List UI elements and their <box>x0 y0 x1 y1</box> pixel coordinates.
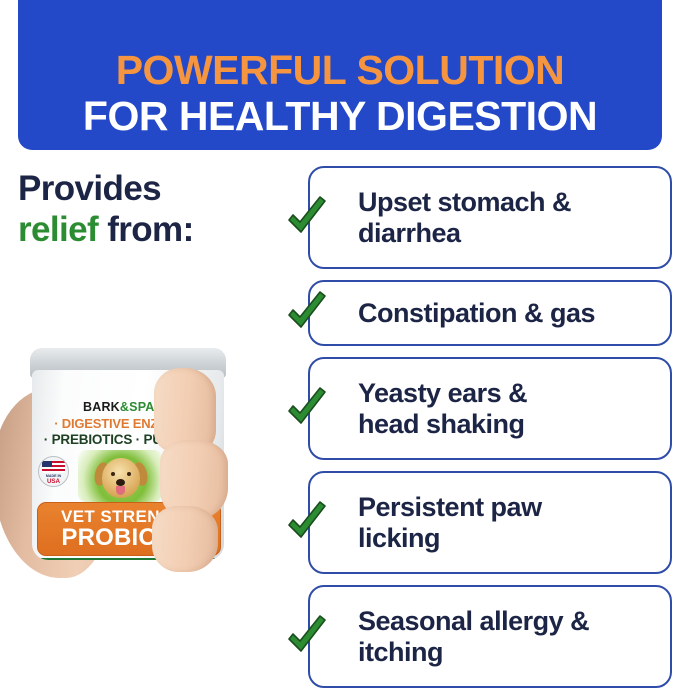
benefit-4-line2: licking <box>358 523 440 553</box>
count-label: SOFT CHEWS <box>174 472 213 478</box>
benefit-box-3: Yeasty ears & head shaking <box>308 357 672 460</box>
header-title-line2: FOR HEALTHY DIGESTION <box>83 96 597 138</box>
dog-tongue <box>116 486 125 495</box>
benefit-text-5: Seasonal allergy & itching <box>358 606 589 668</box>
lead-word-from: from: <box>107 210 193 249</box>
benefit-text-1: Upset stomach & diarrhea <box>358 187 571 249</box>
list-item: Upset stomach & diarrhea <box>308 166 672 269</box>
list-item: Constipation & gas <box>308 280 672 346</box>
brand-logo: BARK&SPARK <box>32 400 224 414</box>
label-enzymes-line: · DIGESTIVE ENZYMES · <box>32 416 224 431</box>
lead-word-provides: Provides <box>18 169 161 208</box>
benefit-3-line2: head shaking <box>358 409 525 439</box>
benefit-text-2: Constipation & gas <box>358 298 595 329</box>
dog-photo <box>78 450 162 502</box>
jar-label: BARK&SPARK · DIGESTIVE ENZYMES · · PREBI… <box>32 370 224 560</box>
benefit-1-line2: diarrhea <box>358 218 461 248</box>
header-banner: POWERFUL SOLUTION FOR HEALTHY DIGESTION <box>18 0 662 150</box>
gut-health-band: GUT HEALTH <box>37 558 219 560</box>
product-photo: BARK&SPARK · DIGESTIVE ENZYMES · · PREBI… <box>0 330 290 586</box>
lead-headline: Provides relief from: <box>18 168 286 251</box>
benefit-5-line1: Seasonal allergy & <box>358 606 589 636</box>
benefit-1-line1: Upset stomach & <box>358 187 571 217</box>
benefits-list: Upset stomach & diarrhea Constipation & … <box>308 166 672 699</box>
brand-amp: & <box>120 400 129 414</box>
lead-word-relief: relief <box>18 210 98 249</box>
benefit-text-3: Yeasty ears & head shaking <box>358 378 527 440</box>
count-number: 120 <box>180 456 205 471</box>
benefit-5-line2: itching <box>358 637 443 667</box>
dog-eye-right <box>127 472 131 476</box>
made-in-usa-badge: MADE IN USA <box>38 456 69 487</box>
dog-eye-left <box>111 472 115 476</box>
list-item: Persistent paw licking <box>308 471 672 574</box>
benefit-box-5: Seasonal allergy & itching <box>308 585 672 688</box>
benefit-3-line1: Yeasty ears & <box>358 378 527 408</box>
brand-spark: SPARK <box>129 400 173 414</box>
usa-made-in-text: MADE IN <box>46 474 61 478</box>
benefit-text-4: Persistent paw licking <box>358 492 542 554</box>
usa-flag-canton <box>42 461 52 467</box>
benefit-2-line1: Constipation & gas <box>358 298 595 328</box>
brand-bark: BARK <box>83 400 120 414</box>
usa-country-text: USA <box>39 478 68 486</box>
probiotic-text: PROBIOTIC <box>38 524 220 552</box>
flavor-text: BACON FLAVOR <box>163 488 218 495</box>
count-badge: 120 SOFT CHEWS <box>170 452 216 482</box>
supplement-jar: BARK&SPARK · DIGESTIVE ENZYMES · · PREBI… <box>30 348 226 568</box>
usa-badge-text: MADE IN USA <box>39 474 68 486</box>
vet-strength-band: VET STRENGTH PROBIOTIC <box>37 502 221 556</box>
benefit-4-line1: Persistent paw <box>358 492 542 522</box>
dog-nose <box>116 479 125 486</box>
benefit-box-4: Persistent paw licking <box>308 471 672 574</box>
list-item: Yeasty ears & head shaking <box>308 357 672 460</box>
benefit-box-1: Upset stomach & diarrhea <box>308 166 672 269</box>
infographic-canvas: POWERFUL SOLUTION FOR HEALTHY DIGESTION … <box>0 0 679 678</box>
header-title-line1: POWERFUL SOLUTION <box>116 50 565 92</box>
list-item: Seasonal allergy & itching <box>308 585 672 688</box>
benefit-box-2: Constipation & gas <box>308 280 672 346</box>
label-prebiotics-line: · PREBIOTICS · PUMPKIN · <box>32 432 224 447</box>
